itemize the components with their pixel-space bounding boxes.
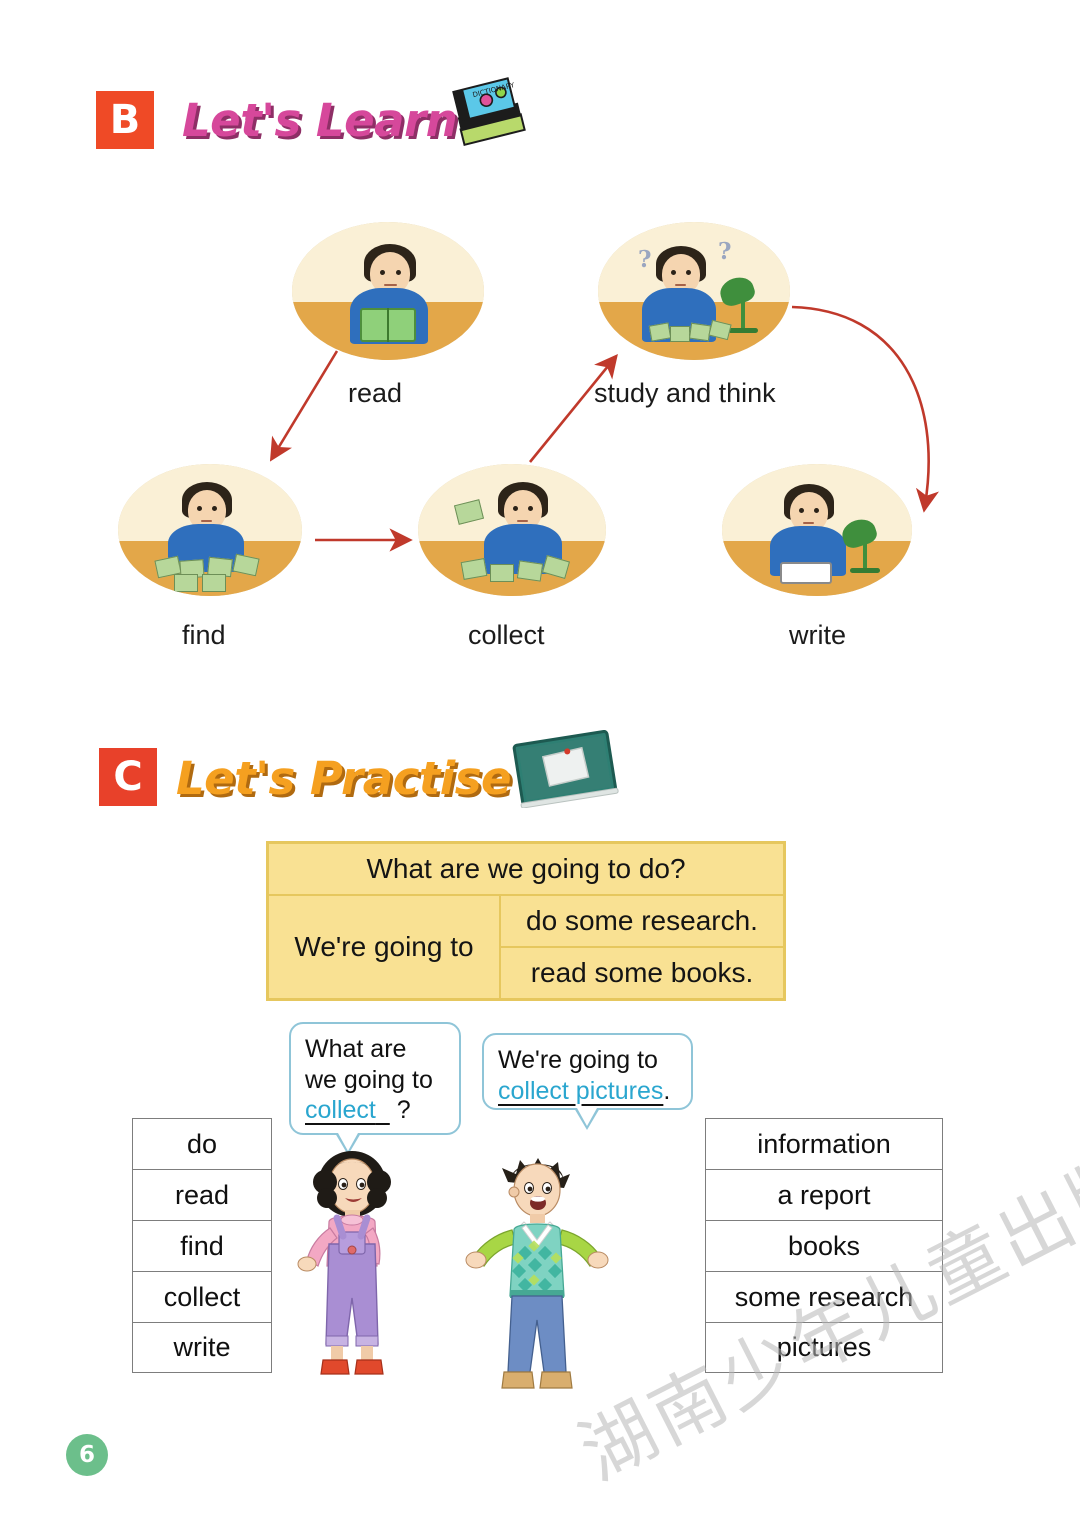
section-badge-c: C [99,748,157,806]
sentence-pattern-table: What are we going to do? We're going to … [266,841,786,1001]
question-mark-icon: ? [718,238,731,265]
section-badge-c-letter: C [113,754,142,800]
list-item-label: find [180,1231,224,1262]
list-item[interactable]: write [132,1322,272,1373]
list-item[interactable]: find [132,1220,272,1271]
table-row: We're going to do some research. read so… [268,895,784,999]
picture-card [689,323,711,342]
list-item-label: collect [164,1282,241,1313]
bubble-line-2: we going to [305,1065,445,1096]
sentence-answer-text: do some research. [526,905,758,937]
blackboard-icon [510,730,620,808]
kid-eye-right [686,270,691,275]
picture-card [517,560,543,581]
speech-bubble-answer-tail [574,1108,600,1130]
desk-lamp-base [728,328,758,333]
verb-word-list: do read find collect write [132,1118,272,1373]
list-item[interactable]: do [132,1118,272,1169]
list-item[interactable]: information [705,1118,943,1169]
kid-mouth [384,284,397,286]
bubble-line-3: collect ? [305,1095,445,1126]
scene-collect [418,464,606,596]
bubble-blank-word[interactable]: collect [305,1096,376,1124]
section-title-c-text: Let's Practise [176,752,511,805]
scene-label-collect-text: collect [468,620,545,650]
bubble-punctuation: . [663,1077,670,1105]
section-badge-b: B [96,91,154,149]
picture-card [649,322,671,341]
page-number-text: 6 [79,1442,95,1468]
section-badge-b-letter: B [110,97,141,143]
boy-character [462,1148,612,1400]
scene-write [722,464,912,596]
question-mark-icon: ? [638,246,651,273]
sentence-subject-text: We're going to [294,931,473,963]
speech-bubble-question: What are we going to collect ? [289,1022,461,1135]
picture-card [490,564,514,582]
sentence-answer-cell: do some research. [500,895,784,947]
scene-label-collect: collect [468,620,545,651]
scene-read [292,222,484,360]
scene-label-write-text: write [789,620,846,650]
notebook [780,562,832,584]
list-item-label: do [187,1129,217,1160]
list-item-label: write [173,1332,230,1363]
desk-lamp-base [850,568,880,573]
sentence-question-cell: What are we going to do? [268,843,784,895]
kid-mouth [517,520,528,522]
sentence-subject-cell: We're going to [268,895,500,999]
list-item-label: a report [777,1180,870,1211]
stacked-books-icon: DICTIONARY [448,76,530,154]
section-title-b: Let's Learn [182,94,457,147]
scene-label-write: write [789,620,846,651]
kid-eye-right [212,506,217,511]
book-spine [387,308,389,342]
scene-label-find-text: find [182,620,226,650]
sentence-answers: do some research. read some books. [500,895,784,999]
kid-eye-right [528,506,533,511]
scene-label-find: find [182,620,226,651]
kid-eye-left [380,270,385,275]
sentence-answer-cell: read some books. [500,947,784,999]
desk-lamp-stem [863,540,867,570]
bubble-blank-space [376,1096,390,1124]
textbook-page: B Let's Learn DICTIONARY read [0,0,1080,1518]
section-title-c: Let's Practise [176,752,511,805]
sentence-question-text: What are we going to do? [366,853,685,885]
bubble-line-1: We're going to [498,1045,677,1076]
kid-eye-right [814,508,819,513]
sentence-answer-text: read some books. [531,957,754,989]
girl-character [285,1148,415,1400]
bubble-line-1: What are [305,1034,445,1065]
bubble-punctuation: ? [397,1096,411,1124]
list-item-label: read [175,1180,229,1211]
list-item-label: information [757,1129,891,1160]
section-title-b-text: Let's Learn [182,94,457,147]
table-row: What are we going to do? [268,843,784,895]
scene-label-study-and-think: study and think [594,378,776,409]
picture-card [174,574,198,592]
kid-eye-left [671,270,676,275]
list-item[interactable]: read [132,1169,272,1220]
picture-card [670,326,690,342]
arrow-read-to-find [274,351,337,455]
kid-eye-left [513,506,518,511]
picture-card [202,574,226,592]
kid-eye-left [799,508,804,513]
bubble-blank-phrase[interactable]: collect pictures [498,1077,663,1105]
kid-eye-left [197,506,202,511]
scene-label-read: read [348,378,402,409]
arrow-collect-to-study [530,360,613,462]
kid-mouth [201,520,212,522]
scene-label-study-and-think-text: study and think [594,378,776,408]
kid-mouth [675,284,686,286]
speech-bubble-answer: We're going to collect pictures. [482,1033,693,1110]
scene-find [118,464,302,596]
desk-lamp-stem [741,298,745,330]
page-number-badge: 6 [66,1434,108,1476]
scene-label-read-text: read [348,378,402,408]
kid-mouth [803,522,814,524]
kid-eye-right [396,270,401,275]
list-item[interactable]: a report [705,1169,943,1220]
bubble-line-2: collect pictures. [498,1076,677,1107]
list-item[interactable]: collect [132,1271,272,1322]
scene-study-and-think: ? ? [598,222,790,360]
